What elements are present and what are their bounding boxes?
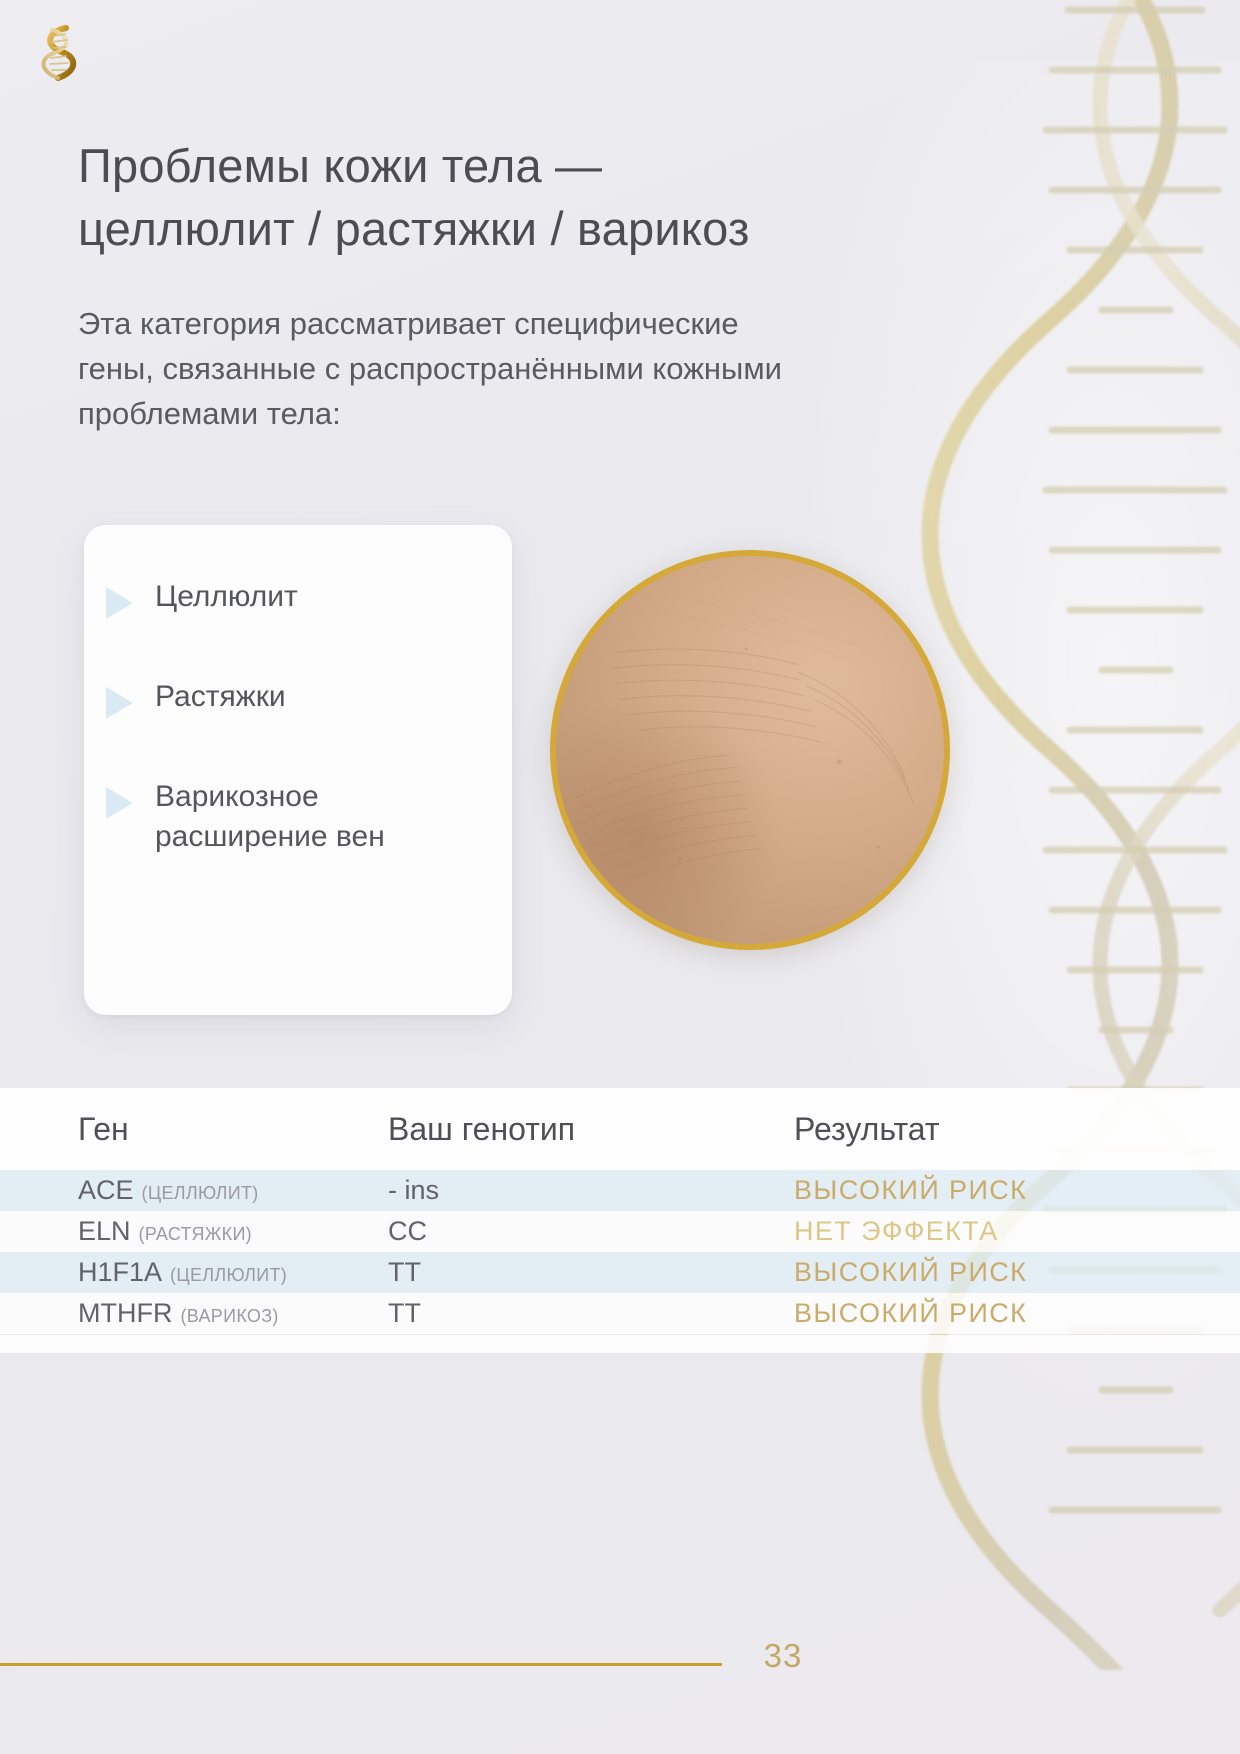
page-title-line-2: целлюлит / растяжки / варикоз (78, 202, 750, 255)
slide-page: Проблемы кожи тела — целлюлит / растяжки… (0, 0, 1240, 1754)
footer-rule (0, 1663, 722, 1666)
genotype-value: TT (388, 1257, 421, 1287)
gene-name: ELN (78, 1216, 131, 1246)
result-badge: НЕТ ЭФФЕКТА (794, 1216, 999, 1246)
genotype-value: TT (388, 1298, 421, 1328)
list-item-label: Целлюлит (155, 577, 298, 617)
column-header-gene: Ген (78, 1111, 388, 1148)
dna-helix-icon (32, 22, 84, 84)
result-badge: ВЫСОКИЙ РИСК (794, 1257, 1027, 1287)
page-title-line-1: Проблемы кожи тела — (78, 139, 602, 192)
genotype-value: - ins (388, 1175, 439, 1205)
column-header-result: Результат (794, 1111, 1240, 1148)
table-row: ACE(ЦЕЛЛЮЛИТ) - ins ВЫСОКИЙ РИСК (0, 1170, 1240, 1211)
genotype-results-table: Ген Ваш генотип Результат ACE(ЦЕЛЛЮЛИТ) … (0, 1088, 1240, 1353)
page-number: 33 (738, 1637, 828, 1675)
table-row: ELN(РАСТЯЖКИ) CC НЕТ ЭФФЕКТА (0, 1211, 1240, 1252)
gene-name: ACE (78, 1175, 134, 1205)
column-header-genotype: Ваш генотип (388, 1111, 794, 1148)
gene-tag: (РАСТЯЖКИ) (139, 1224, 252, 1244)
list-item-label: Варикозное расширение вен (155, 777, 494, 857)
table-header: Ген Ваш генотип Результат (0, 1088, 1240, 1170)
triangle-bullet-icon (106, 587, 133, 619)
intro-paragraph: Эта категория рассматривает специфически… (78, 302, 798, 437)
triangle-bullet-icon (106, 687, 133, 719)
conditions-list: Целлюлит Растяжки Варикозное расширение … (106, 577, 494, 857)
list-item-label: Растяжки (155, 677, 286, 717)
conditions-card: Целлюлит Растяжки Варикозное расширение … (84, 525, 512, 1015)
page-title: Проблемы кожи тела — целлюлит / растяжки… (78, 135, 958, 259)
table-row: H1F1A(ЦЕЛЛЮЛИТ) TT ВЫСОКИЙ РИСК (0, 1252, 1240, 1293)
gene-tag: (ЦЕЛЛЮЛИТ) (170, 1265, 287, 1285)
skin-cellulite-photo (550, 550, 950, 950)
result-badge: ВЫСОКИЙ РИСК (794, 1298, 1027, 1328)
gene-tag: (ЦЕЛЛЮЛИТ) (142, 1183, 259, 1203)
genotype-value: CC (388, 1216, 427, 1246)
gene-tag: (ВАРИКОЗ) (180, 1306, 278, 1326)
list-item: Варикозное расширение вен (106, 777, 494, 857)
triangle-bullet-icon (106, 787, 133, 819)
table-body: ACE(ЦЕЛЛЮЛИТ) - ins ВЫСОКИЙ РИСК ELN(РАС… (0, 1170, 1240, 1334)
gene-name: MTHFR (78, 1298, 172, 1328)
table-row: MTHFR(ВАРИКОЗ) TT ВЫСОКИЙ РИСК (0, 1293, 1240, 1334)
result-badge: ВЫСОКИЙ РИСК (794, 1175, 1027, 1205)
list-item: Целлюлит (106, 577, 494, 619)
list-item: Растяжки (106, 677, 494, 719)
table-footer-strip (0, 1335, 1240, 1353)
gene-name: H1F1A (78, 1257, 162, 1287)
